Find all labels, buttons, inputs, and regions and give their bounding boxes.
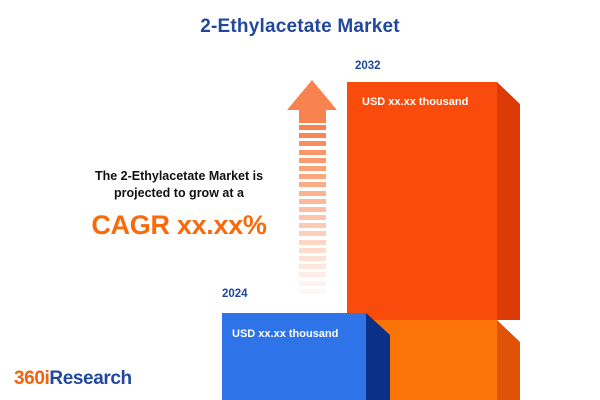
bar-2024-side-face <box>366 335 390 400</box>
arrow-stripe <box>299 191 326 196</box>
arrow-stripe <box>299 289 326 294</box>
arrow-stripe <box>299 223 326 228</box>
cagr-highlight: CAGR xx.xx% <box>68 210 290 241</box>
logo-part-research: Research <box>49 368 131 389</box>
arrow-stripe <box>299 125 326 130</box>
arrow-stripe <box>299 150 326 155</box>
logo-part-360: 360 <box>14 368 45 389</box>
arrow-stripe <box>299 281 326 286</box>
arrow-stripe <box>299 240 326 245</box>
arrow-stripe <box>299 215 326 220</box>
arrow-stripe <box>299 174 326 179</box>
arrow-stripe <box>299 133 326 138</box>
brand-logo: 360iResearch <box>14 368 132 390</box>
arrow-stripe <box>299 256 326 261</box>
arrow-stripe <box>299 231 326 236</box>
arrow-stripe <box>299 199 326 204</box>
arrow-neck <box>299 110 326 123</box>
arrow-stripe <box>299 248 326 253</box>
bar-2032-top-face <box>497 82 520 104</box>
arrow-stripe <box>299 207 326 212</box>
bar-2024-front-face <box>222 313 366 400</box>
arrow-shaft <box>299 125 326 296</box>
arrow-stripe <box>299 182 326 187</box>
bar-value-2024: USD xx.xx thousand <box>232 328 338 340</box>
arrow-stripe <box>299 264 326 269</box>
narrative-line-1: The 2-Ethylacetate Market is <box>68 168 290 185</box>
bar-2032-front-face <box>347 82 497 320</box>
arrow-head <box>287 80 337 110</box>
arrow-stripe <box>299 272 326 277</box>
arrow-stripe <box>299 166 326 171</box>
infographic-canvas: 2-Ethylacetate Market The 2-Ethylacetate… <box>0 0 600 400</box>
bar-2032-side-face <box>497 104 520 320</box>
bar-2032-lower-top-face <box>497 320 520 342</box>
bar-2024-top-face <box>366 313 390 335</box>
arrow-stripe <box>299 141 326 146</box>
bar-2032-lower-side-face <box>497 342 520 400</box>
narrative-text-block: The 2-Ethylacetate Market is projected t… <box>68 168 290 241</box>
page-title: 2-Ethylacetate Market <box>0 16 600 38</box>
bar-label-2032: 2032 <box>355 60 381 72</box>
up-arrow-icon <box>287 80 338 296</box>
bar-value-2032: USD xx.xx thousand <box>362 96 468 108</box>
narrative-line-2: projected to grow at a <box>68 185 290 202</box>
arrow-stripe <box>299 158 326 163</box>
bar-label-2024: 2024 <box>222 288 248 300</box>
